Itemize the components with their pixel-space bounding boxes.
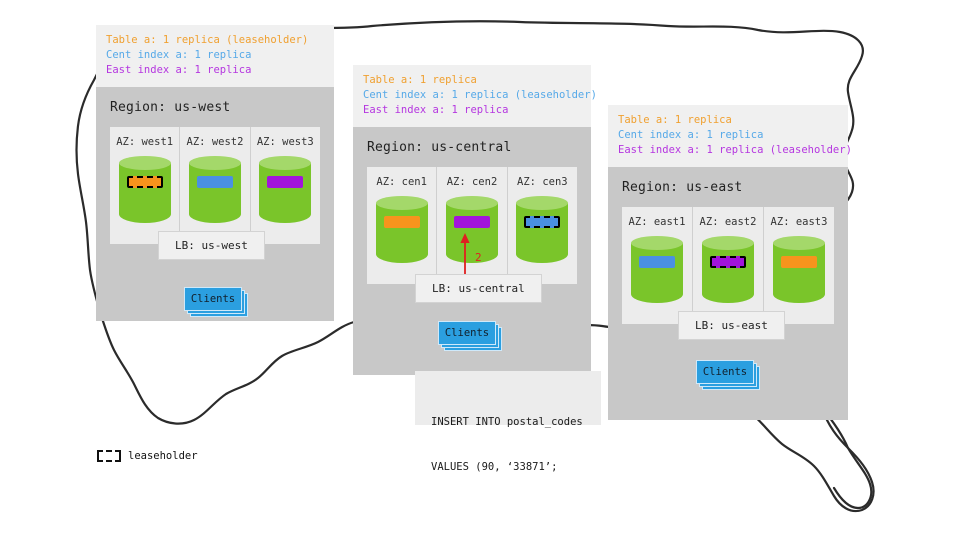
- az-label-west3: AZ: west3: [251, 136, 320, 148]
- replica-line-cent: Cent index a: 1 replica (leaseholder): [363, 88, 581, 103]
- az-cell-cen1[interactable]: AZ: cen1: [367, 167, 437, 284]
- region-panel-us-central: Table a: 1 replica Cent index a: 1 repli…: [353, 65, 591, 375]
- az-label-cen1: AZ: cen1: [367, 176, 436, 188]
- legend-label: leaseholder: [128, 450, 198, 462]
- cylinder-body: [119, 163, 171, 223]
- node-cylinder-cen3[interactable]: [516, 196, 568, 270]
- region-title-us-east: Region: us-east: [608, 167, 848, 207]
- cylinder-top: [189, 156, 241, 170]
- replica-bar-west2: [197, 176, 233, 188]
- az-label-west1: AZ: west1: [110, 136, 179, 148]
- replica-bar-cen3: [524, 216, 560, 228]
- replica-bar-east1: [639, 256, 675, 268]
- region-title-us-west: Region: us-west: [96, 87, 334, 127]
- az-cell-east3[interactable]: AZ: east3: [764, 207, 834, 324]
- cylinder-top: [702, 236, 754, 250]
- replica-line-cent: Cent index a: 1 replica: [106, 48, 324, 63]
- replica-bar-cen1: [384, 216, 420, 228]
- region-panel-us-east: Table a: 1 replica Cent index a: 1 repli…: [608, 105, 848, 420]
- clients-label-us-east[interactable]: Clients: [696, 360, 754, 384]
- az-label-east2: AZ: east2: [693, 216, 763, 228]
- az-cell-west3[interactable]: AZ: west3: [251, 127, 320, 244]
- load-balancer-us-central[interactable]: LB: us-central: [415, 274, 542, 303]
- cylinder-body: [446, 203, 498, 263]
- replica-summary-us-east: Table a: 1 replica Cent index a: 1 repli…: [608, 105, 848, 167]
- node-cylinder-west2[interactable]: [189, 156, 241, 230]
- az-label-cen2: AZ: cen2: [437, 176, 506, 188]
- sql-statement-box: INSERT INTO postal_codes VALUES (90, ‘33…: [415, 371, 601, 425]
- load-balancer-us-west[interactable]: LB: us-west: [158, 231, 265, 260]
- az-cell-west2[interactable]: AZ: west2: [180, 127, 250, 244]
- az-cell-cen3[interactable]: AZ: cen3: [508, 167, 577, 284]
- diagram-canvas: Table a: 1 replica (leaseholder) Cent in…: [0, 0, 960, 540]
- cylinder-body: [702, 243, 754, 303]
- node-cylinder-cen2[interactable]: [446, 196, 498, 270]
- node-cylinder-east2[interactable]: [702, 236, 754, 310]
- region-body-us-west: Region: us-west AZ: west1 AZ: west2: [96, 87, 334, 321]
- replica-line-table: Table a: 1 replica (leaseholder): [106, 33, 324, 48]
- az-label-cen3: AZ: cen3: [508, 176, 577, 188]
- cylinder-body: [189, 163, 241, 223]
- az-row-us-west: AZ: west1 AZ: west2 AZ: [110, 127, 320, 244]
- replica-bar-east2: [710, 256, 746, 268]
- replica-line-east: East index a: 1 replica: [363, 103, 581, 118]
- az-label-east3: AZ: east3: [764, 216, 834, 228]
- replica-bar-cen2: [454, 216, 490, 228]
- replica-bar-east3: [781, 256, 817, 268]
- cylinder-body: [259, 163, 311, 223]
- cylinder-body: [773, 243, 825, 303]
- clients-label-us-central[interactable]: Clients: [438, 321, 496, 345]
- clients-us-central[interactable]: Clients: [438, 321, 500, 347]
- cylinder-top: [446, 196, 498, 210]
- az-row-us-central: AZ: cen1 AZ: cen2 AZ:: [367, 167, 577, 284]
- node-cylinder-east1[interactable]: [631, 236, 683, 310]
- load-balancer-us-east[interactable]: LB: us-east: [678, 311, 785, 340]
- clients-label-us-west[interactable]: Clients: [184, 287, 242, 311]
- replica-bar-west3: [267, 176, 303, 188]
- cylinder-top: [631, 236, 683, 250]
- region-title-us-central: Region: us-central: [353, 127, 591, 167]
- region-panel-us-west: Table a: 1 replica (leaseholder) Cent in…: [96, 25, 334, 321]
- replica-line-cent: Cent index a: 1 replica: [618, 128, 838, 143]
- node-cylinder-west1[interactable]: [119, 156, 171, 230]
- replica-line-east: East index a: 1 replica (leaseholder): [618, 143, 838, 158]
- az-row-us-east: AZ: east1 AZ: east2 AZ: [622, 207, 834, 324]
- cylinder-top: [376, 196, 428, 210]
- cylinder-top: [516, 196, 568, 210]
- replica-bar-west1: [127, 176, 163, 188]
- az-cell-east1[interactable]: AZ: east1: [622, 207, 693, 324]
- cylinder-top: [119, 156, 171, 170]
- clients-us-east[interactable]: Clients: [696, 360, 758, 386]
- node-cylinder-west3[interactable]: [259, 156, 311, 230]
- az-cell-cen2[interactable]: AZ: cen2: [437, 167, 507, 284]
- cylinder-body: [376, 203, 428, 263]
- node-cylinder-east3[interactable]: [773, 236, 825, 310]
- replica-line-east: East index a: 1 replica: [106, 63, 324, 78]
- replica-line-table: Table a: 1 replica: [618, 113, 838, 128]
- cylinder-top: [773, 236, 825, 250]
- replica-summary-us-west: Table a: 1 replica (leaseholder) Cent in…: [96, 25, 334, 87]
- node-cylinder-cen1[interactable]: [376, 196, 428, 270]
- az-label-west2: AZ: west2: [180, 136, 249, 148]
- sql-line-1: INSERT INTO postal_codes: [431, 415, 587, 430]
- clients-us-west[interactable]: Clients: [184, 287, 246, 313]
- cylinder-top: [259, 156, 311, 170]
- az-label-east1: AZ: east1: [622, 216, 692, 228]
- az-cell-west1[interactable]: AZ: west1: [110, 127, 180, 244]
- legend-leaseholder: leaseholder: [97, 450, 198, 462]
- dashed-box-icon: [97, 450, 121, 462]
- cylinder-body: [516, 203, 568, 263]
- az-cell-east2[interactable]: AZ: east2: [693, 207, 764, 324]
- sql-line-2: VALUES (90, ‘33871’;: [431, 460, 587, 475]
- cylinder-body: [631, 243, 683, 303]
- replica-line-table: Table a: 1 replica: [363, 73, 581, 88]
- replica-summary-us-central: Table a: 1 replica Cent index a: 1 repli…: [353, 65, 591, 127]
